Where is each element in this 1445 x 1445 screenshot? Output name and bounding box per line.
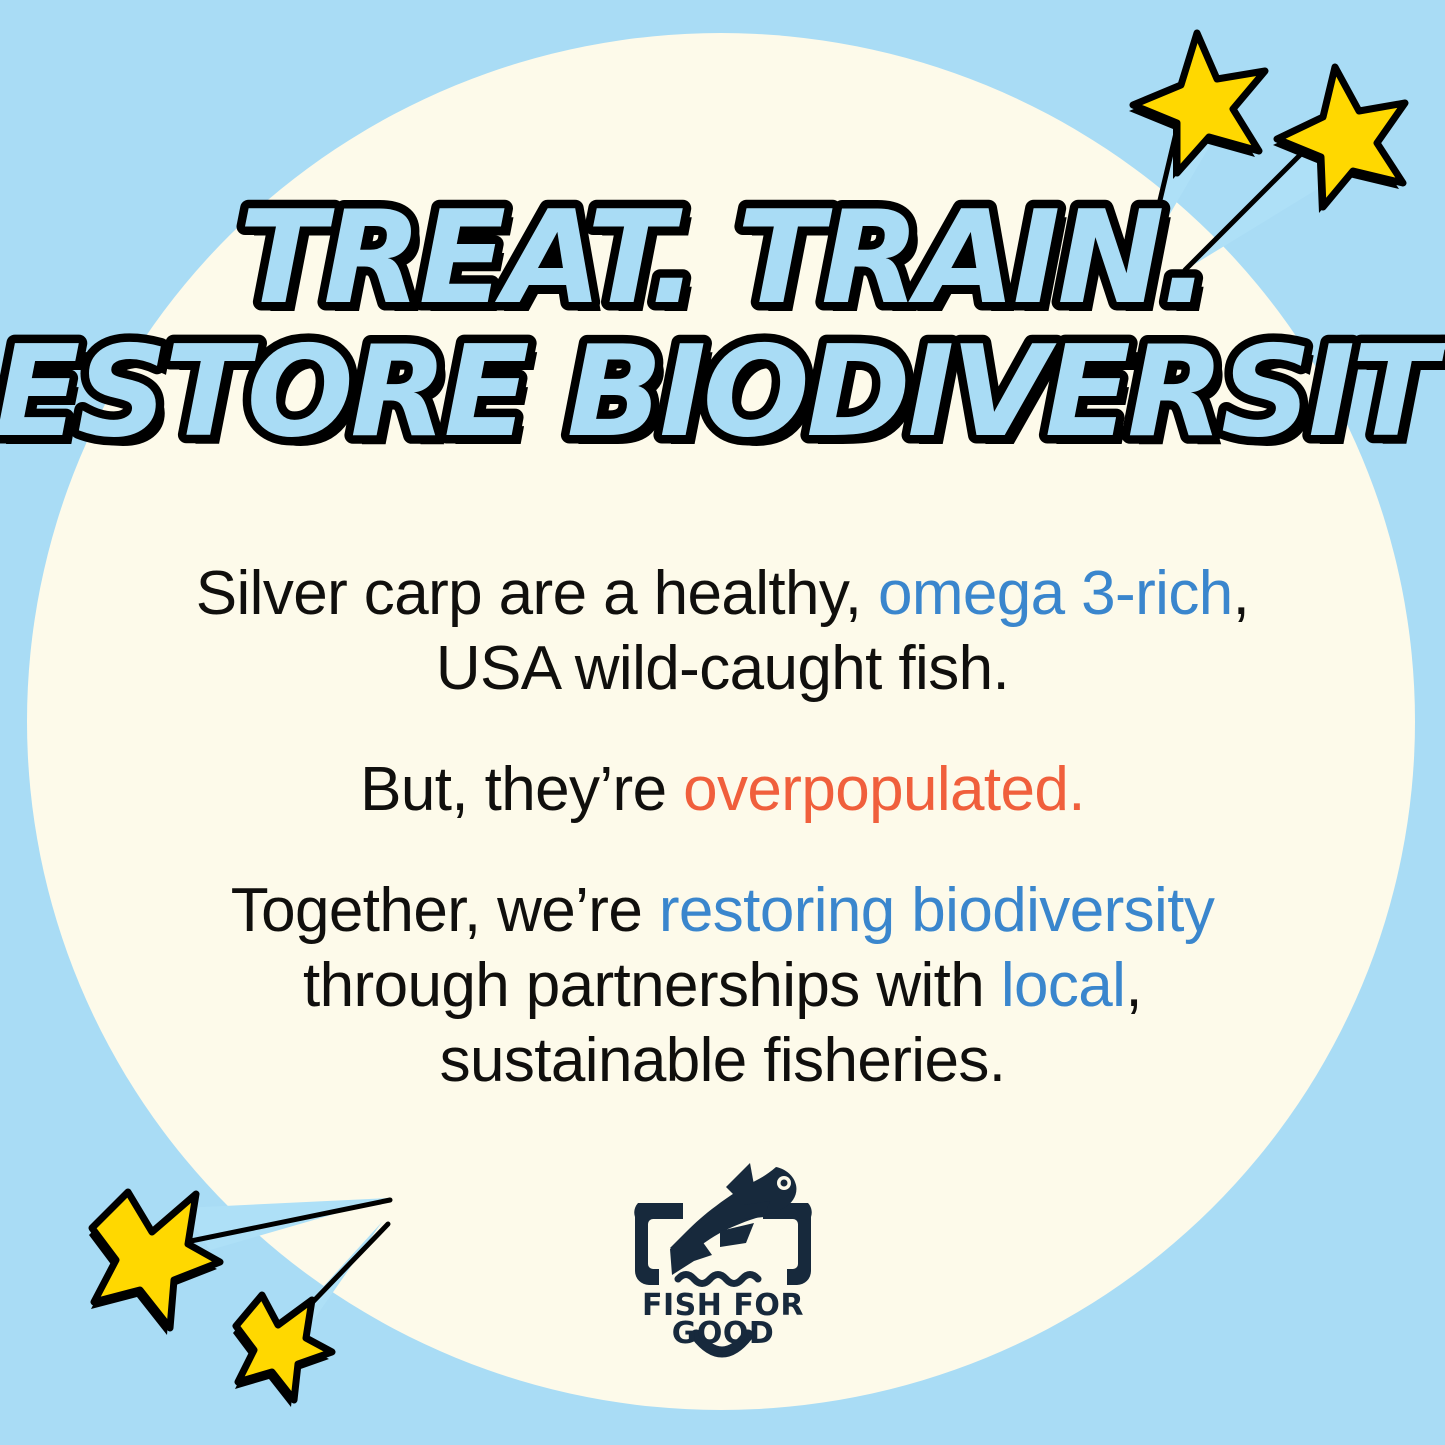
logo-fish-pupil-icon xyxy=(781,1180,788,1187)
fish-for-good-logo: FISH FOR GOOD xyxy=(608,1145,838,1365)
logo-right-bracket-icon xyxy=(763,1203,812,1285)
headline-block: .hl { font-family: "DejaVu Sans", sans-s… xyxy=(0,190,1445,467)
headline-line-1: .hl { font-family: "DejaVu Sans", sans-s… xyxy=(0,190,1445,325)
p3-segment-plain-a: Together, we’re xyxy=(231,876,659,945)
paragraph-3: Together, we’re restoring biodiversity t… xyxy=(70,873,1375,1098)
p3-segment-restoring-biodiversity: restoring biodiversity xyxy=(659,876,1214,945)
p1-segment-omega3: omega 3-rich xyxy=(878,559,1233,628)
p3-segment-plain-b: through partnerships with xyxy=(303,951,1001,1020)
logo-brand-line-2: GOOD xyxy=(672,1316,775,1351)
p1-segment-comma: , xyxy=(1233,559,1250,628)
p3-segment-line3: sustainable fisheries. xyxy=(440,1026,1006,1095)
poster-canvas: .hl { font-family: "DejaVu Sans", sans-s… xyxy=(0,0,1445,1445)
p1-segment-line2: USA wild-caught fish. xyxy=(436,634,1009,703)
p1-segment-plain-a: Silver carp are a healthy, xyxy=(196,559,878,628)
paragraph-2: But, they’re overpopulated. xyxy=(70,752,1375,827)
headline-line-1-text: TREAT. TRAIN. xyxy=(238,184,1206,333)
p2-segment-plain: But, they’re xyxy=(360,755,683,824)
logo-water-waves-icon xyxy=(678,1275,758,1284)
p3-segment-local: local xyxy=(1001,951,1126,1020)
body-copy-block: Silver carp are a healthy, omega 3-rich,… xyxy=(70,556,1375,1098)
headline-line-2: .hl2 { font-family: "DejaVu Sans", sans-… xyxy=(0,317,1445,467)
paragraph-1: Silver carp are a healthy, omega 3-rich,… xyxy=(70,556,1375,706)
p3-segment-comma: , xyxy=(1125,951,1142,1020)
p2-segment-overpopulated: overpopulated. xyxy=(683,755,1085,824)
headline-line-2-text: RESTORE BIODIVERSITY. xyxy=(0,318,1445,465)
